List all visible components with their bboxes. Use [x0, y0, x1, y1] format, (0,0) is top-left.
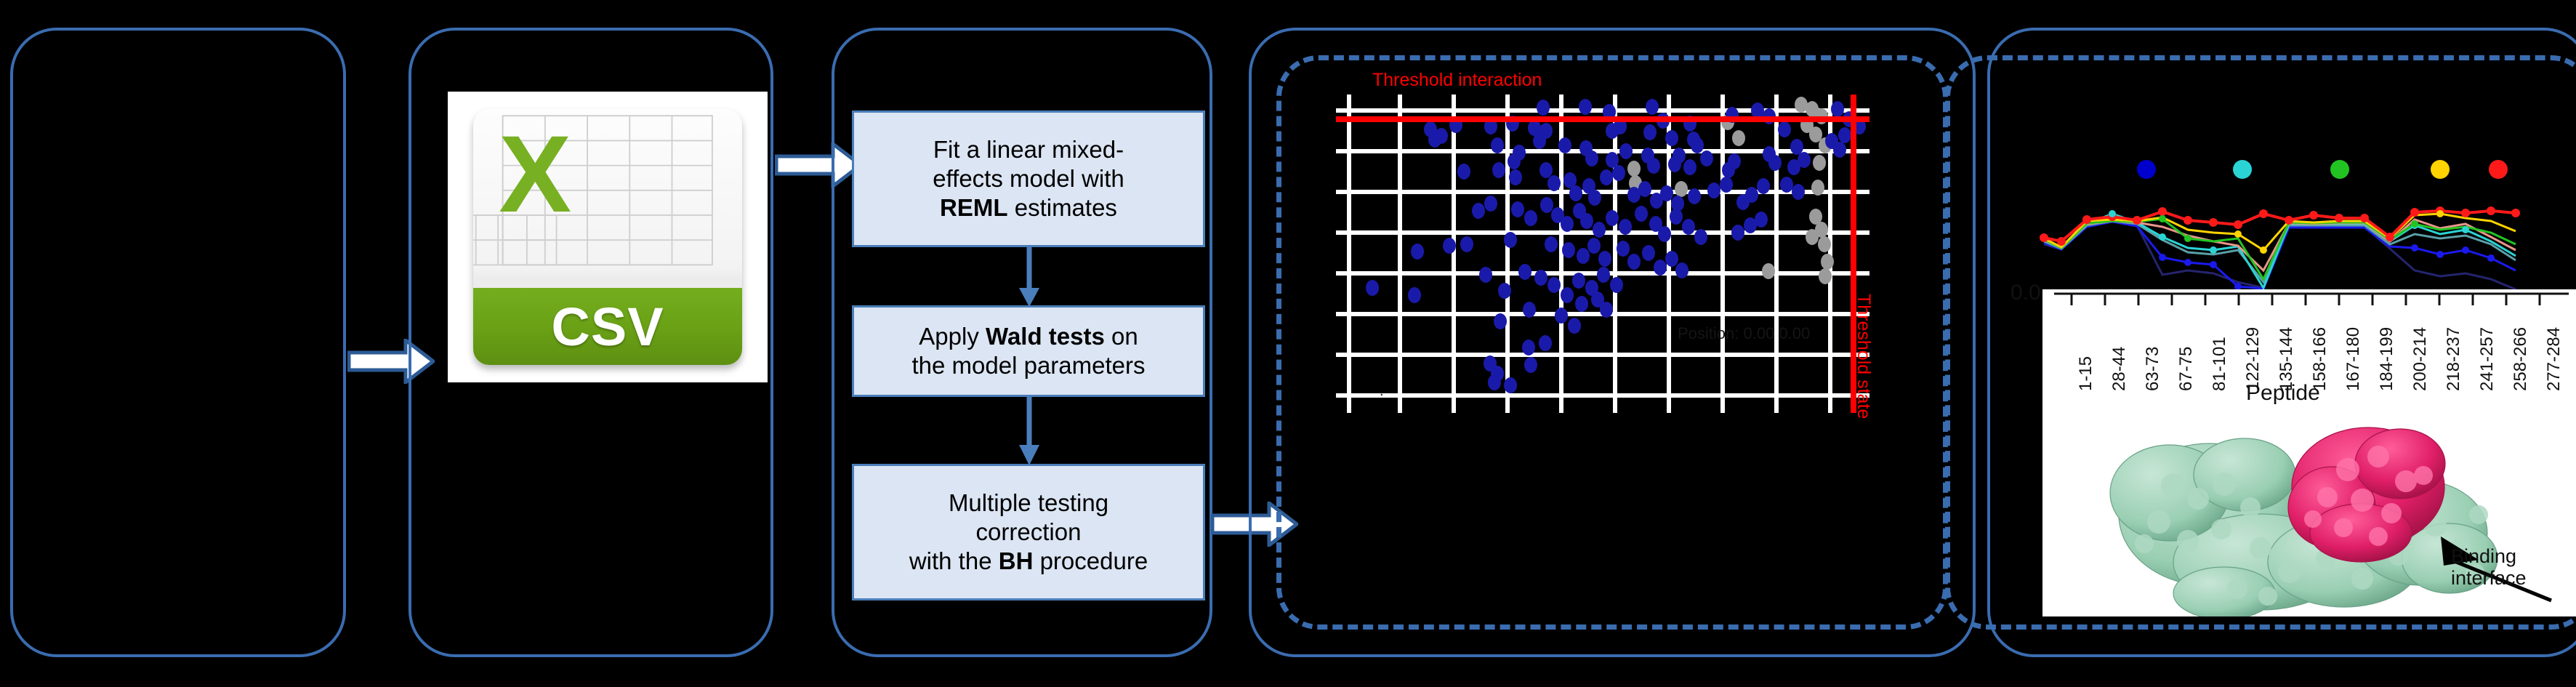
excel-x-glyph: X	[489, 119, 581, 227]
csv-label: CSV	[551, 296, 664, 358]
figure-canvas: X CSV Fit a linear mixed- effects model …	[0, 0, 2576, 687]
peptide-line-chart	[1992, 145, 2576, 291]
svg-text:Position: 0.00 0.00: Position: 0.00 0.00	[1678, 324, 1810, 342]
binding-interface-annotation: Binding interface	[2451, 545, 2527, 589]
step-model-line3-rest: estimates	[1008, 194, 1117, 221]
svg-text:.: .	[1380, 383, 1384, 399]
peptide-tick-13: 258-266	[2511, 327, 2531, 391]
peptide-tick-3: 67-75	[2176, 347, 2197, 391]
peptide-tick-9: 184-199	[2377, 327, 2397, 391]
step-bh-box[interactable]: Multiple testing correction with the BH …	[852, 464, 1205, 600]
peptide-chart-svg	[1992, 145, 2576, 291]
peptide-tick-10: 200-214	[2410, 327, 2431, 391]
peptide-y-axis-label: 0.0	[2011, 281, 2041, 305]
peptide-tick-8: 167-180	[2343, 327, 2364, 391]
peptide-tick-4: 81-101	[2210, 337, 2230, 391]
step-wald-bold: Wald tests	[986, 323, 1105, 350]
step-wald-box[interactable]: Apply Wald tests on the model parameters	[852, 305, 1205, 397]
csv-icon: X CSV	[473, 109, 742, 365]
step-model-line2: effects model with	[933, 165, 1124, 192]
csv-file-image: X CSV	[448, 92, 768, 382]
step-model-box[interactable]: Fit a linear mixed- effects model with R…	[852, 111, 1205, 247]
step-connector-2	[1016, 397, 1042, 467]
step-bh-line2: correction	[976, 518, 1082, 545]
step-bh-line1: Multiple testing	[949, 489, 1108, 516]
peptide-tick-14: 277-284	[2544, 327, 2564, 391]
binding-interface-line2: interface	[2451, 567, 2527, 589]
csv-label-band: CSV	[473, 288, 742, 365]
step-connector-1	[1016, 247, 1042, 308]
binding-interface-line1: Binding	[2451, 545, 2527, 567]
peptide-tick-2: 63-73	[2143, 347, 2163, 391]
volcano-scatter-plot: Position: 0.00 0.00 .	[1336, 95, 1869, 413]
step-bh-line3-pre: with the	[909, 547, 999, 574]
step-model-reml: REML	[940, 194, 1008, 221]
protein-structure-image: Binding interface	[2042, 406, 2576, 616]
step-bh-line3-post: procedure	[1033, 547, 1148, 574]
volcano-plot-svg: Position: 0.00 0.00 .	[1336, 95, 1869, 413]
threshold-state-label: Threshold state	[1853, 294, 1874, 419]
step-bh-bold: BH	[999, 547, 1034, 574]
peptide-tick-0: 1-15	[2076, 356, 2096, 391]
step-wald-pre: Apply	[919, 323, 986, 350]
data-collection-panel	[10, 28, 346, 657]
step-model-line1: Fit a linear mixed-	[933, 136, 1124, 163]
threshold-interaction-label: Threshold interaction	[1372, 70, 1542, 91]
peptide-tick-11: 218-237	[2444, 327, 2464, 391]
peptide-tick-1: 28-44	[2109, 347, 2130, 391]
peptide-tick-12: 241-257	[2477, 327, 2497, 391]
peptide-x-axis-label: Peptide	[2246, 381, 2320, 406]
step-wald-post: on	[1105, 323, 1138, 350]
step-wald-line2: the model parameters	[912, 352, 1146, 379]
